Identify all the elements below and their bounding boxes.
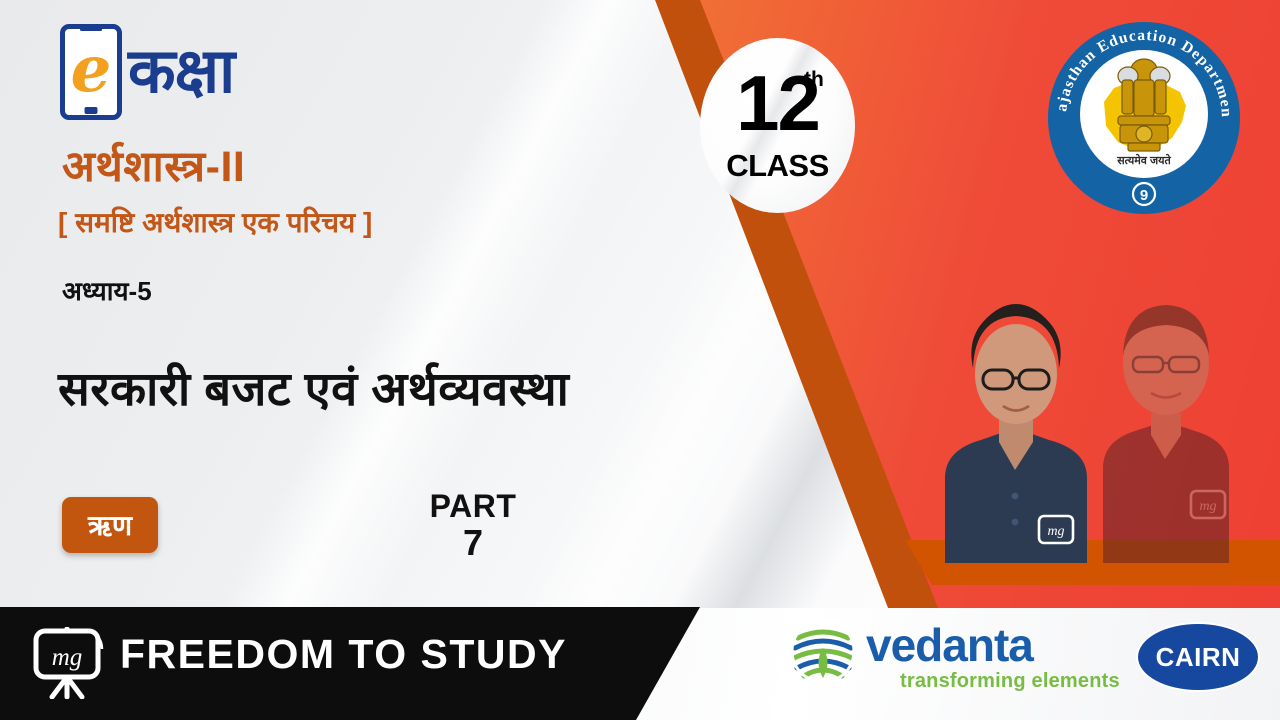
class-ordinal: th — [804, 68, 824, 92]
part-indicator: PART 7 — [418, 490, 528, 561]
chapter-title: सरकारी बजट एवं अर्थव्यवस्था — [58, 355, 569, 419]
subject-title: अर्थशास्त्र-II — [62, 135, 245, 194]
part-label: PART — [418, 490, 528, 524]
tablet-icon: e — [60, 24, 122, 120]
slide-root: e कक्षा अर्थशास्त्र-II [ समष्टि अर्थशास्… — [0, 0, 1280, 720]
class-word: CLASS — [700, 148, 855, 184]
class-badge: 12 th CLASS — [700, 38, 855, 213]
class-number: 12 — [700, 64, 855, 142]
cairn-logo: CAIRN — [1138, 624, 1258, 690]
mg-easel-icon: mg — [30, 627, 108, 699]
chapter-number: अध्याय-5 — [62, 272, 152, 308]
rajasthan-education-department-seal: सत्यमेव जयते Rajasthan Education Departm… — [1044, 18, 1244, 218]
ekaksha-logo: e कक्षा — [60, 24, 234, 120]
instructor-female: mg — [915, 278, 1130, 563]
instructors-photo: mg mg — [915, 245, 1263, 563]
ashoka-emblem — [1118, 59, 1170, 151]
svg-text:mg: mg — [52, 644, 83, 671]
svg-text:mg: mg — [1047, 524, 1064, 539]
part-number: 7 — [418, 524, 528, 562]
vedanta-tagline: transforming elements — [900, 670, 1120, 693]
topic-badge: ऋण — [62, 497, 158, 553]
svg-text:mg: mg — [1199, 499, 1216, 514]
cairn-wordmark: CAIRN — [1156, 642, 1241, 673]
vedanta-wordmark: vedanta — [866, 622, 1033, 668]
subject-subtitle: [ समष्टि अर्थशास्त्र एक परिचय ] — [58, 203, 372, 241]
logo-wordmark: कक्षा — [128, 41, 234, 103]
seal-motto: सत्यमेव जयते — [1116, 153, 1171, 167]
logo-e-letter: e — [71, 38, 112, 102]
svg-text:9: 9 — [1140, 187, 1148, 204]
vedanta-globe-icon — [790, 618, 856, 684]
footer-tagline: FREEDOM TO STUDY — [120, 631, 567, 678]
